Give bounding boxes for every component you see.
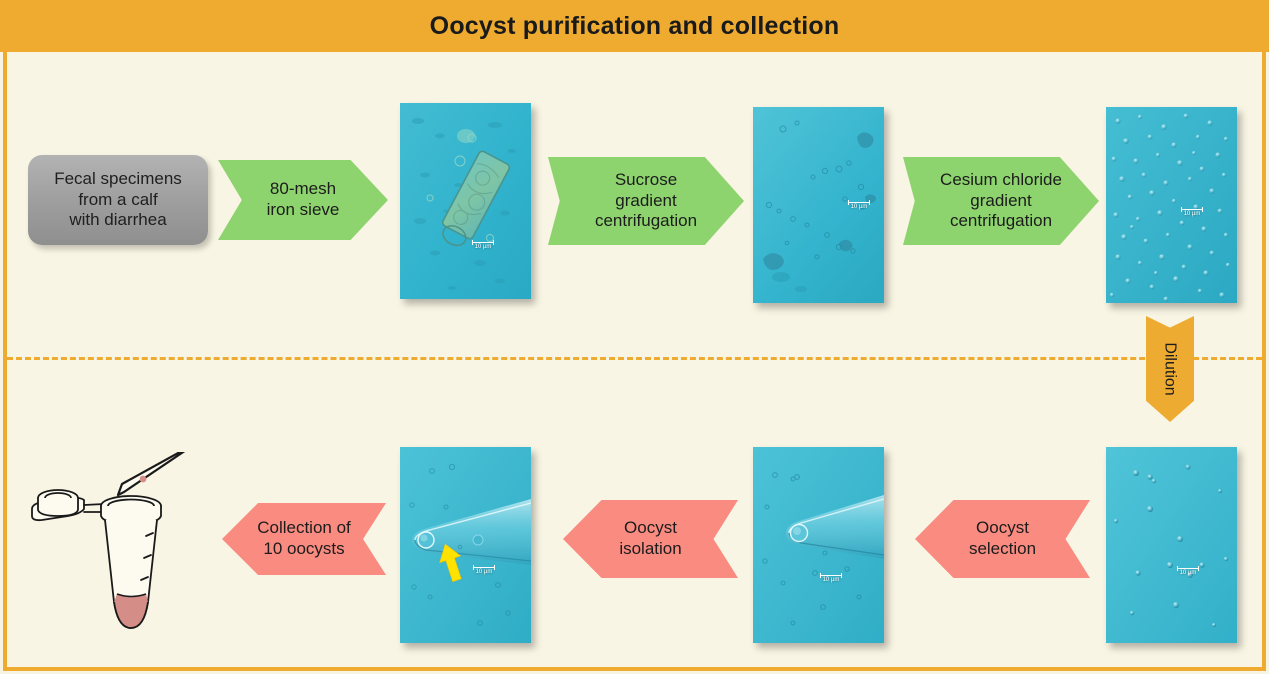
step-arrow-cesium-chloride-gradient: Cesium chloride gradient centrifugation <box>903 157 1099 245</box>
scalebar-line-1 <box>472 242 494 243</box>
scalebar-line-3 <box>1181 209 1203 210</box>
source-specimen-label: Fecal specimens from a calf with diarrhe… <box>28 169 208 231</box>
scalebar-label-6: 10 µm <box>476 569 493 575</box>
scalebar-1: 10 µm <box>461 242 505 250</box>
dilution-label: Dilution <box>1161 342 1179 395</box>
step-arrow-sucrose-gradient-label: Sucrose gradient centrifugation <box>548 170 744 232</box>
scalebar-line-6 <box>473 567 495 568</box>
page-title: Oocyst purification and collection <box>430 12 840 41</box>
micrograph-field-3 <box>1106 107 1237 303</box>
dilution-arrow: Dilution <box>1146 316 1194 422</box>
scalebar-2: 10 µm <box>837 202 881 210</box>
scalebar-5: 10 µm <box>809 575 853 583</box>
scalebar-line-2 <box>848 202 870 203</box>
source-specimen-box: Fecal specimens from a calf with diarrhe… <box>28 155 208 245</box>
tube-liquid <box>114 594 148 628</box>
scalebar-3: 10 µm <box>1170 209 1214 217</box>
scalebar-4: 10 µm <box>1166 568 1210 576</box>
micrograph-field-4 <box>1106 447 1237 643</box>
micrograph-oocyst-captured-in-micropipette: 10 µm <box>400 447 531 643</box>
step-arrow-oocyst-isolation-label: Oocyst isolation <box>563 518 738 559</box>
micrograph-field-5 <box>753 447 884 643</box>
scalebar-label-5: 10 µm <box>823 577 840 583</box>
micrograph-post-sucrose-gradient: 10 µm <box>753 107 884 303</box>
scalebar-label-2: 10 µm <box>851 204 868 210</box>
micrograph-field-1 <box>400 103 531 299</box>
step-arrow-collection-of-oocysts-label: Collection of 10 oocysts <box>222 518 386 559</box>
step-arrow-iron-sieve-label: 80-mesh iron sieve <box>218 179 388 220</box>
pipette-droplet <box>140 476 147 483</box>
scalebar-line-5 <box>820 575 842 576</box>
step-arrow-sucrose-gradient: Sucrose gradient centrifugation <box>548 157 744 245</box>
collection-tube-illustration <box>18 452 198 642</box>
step-arrow-cesium-chloride-gradient-label: Cesium chloride gradient centrifugation <box>903 170 1099 232</box>
micropipette-tip-icon <box>118 452 198 495</box>
collection-tube-svg <box>18 452 198 642</box>
figure-header: Oocyst purification and collection <box>0 0 1269 52</box>
scalebar-line-4 <box>1177 568 1199 569</box>
micrograph-micropipette-approaching-oocyst: 10 µm <box>753 447 884 643</box>
scalebar-label-1: 10 µm <box>475 244 492 250</box>
micrograph-field-6 <box>400 447 531 643</box>
micrograph-sieved-fecal-sample: 10 µm <box>400 103 531 299</box>
row-divider <box>7 357 1262 360</box>
figure-root: Oocyst purification and collection Fecal… <box>0 0 1269 674</box>
micrograph-diluted-oocyst-suspension: 10 µm <box>1106 447 1237 643</box>
micrograph-post-cesium-chloride-gradient: 10 µm <box>1106 107 1237 303</box>
scalebar-6: 10 µm <box>462 567 506 575</box>
scalebar-label-3: 10 µm <box>1184 211 1201 217</box>
step-arrow-oocyst-selection-label: Oocyst selection <box>915 518 1090 559</box>
scalebar-label-4: 10 µm <box>1180 570 1197 576</box>
